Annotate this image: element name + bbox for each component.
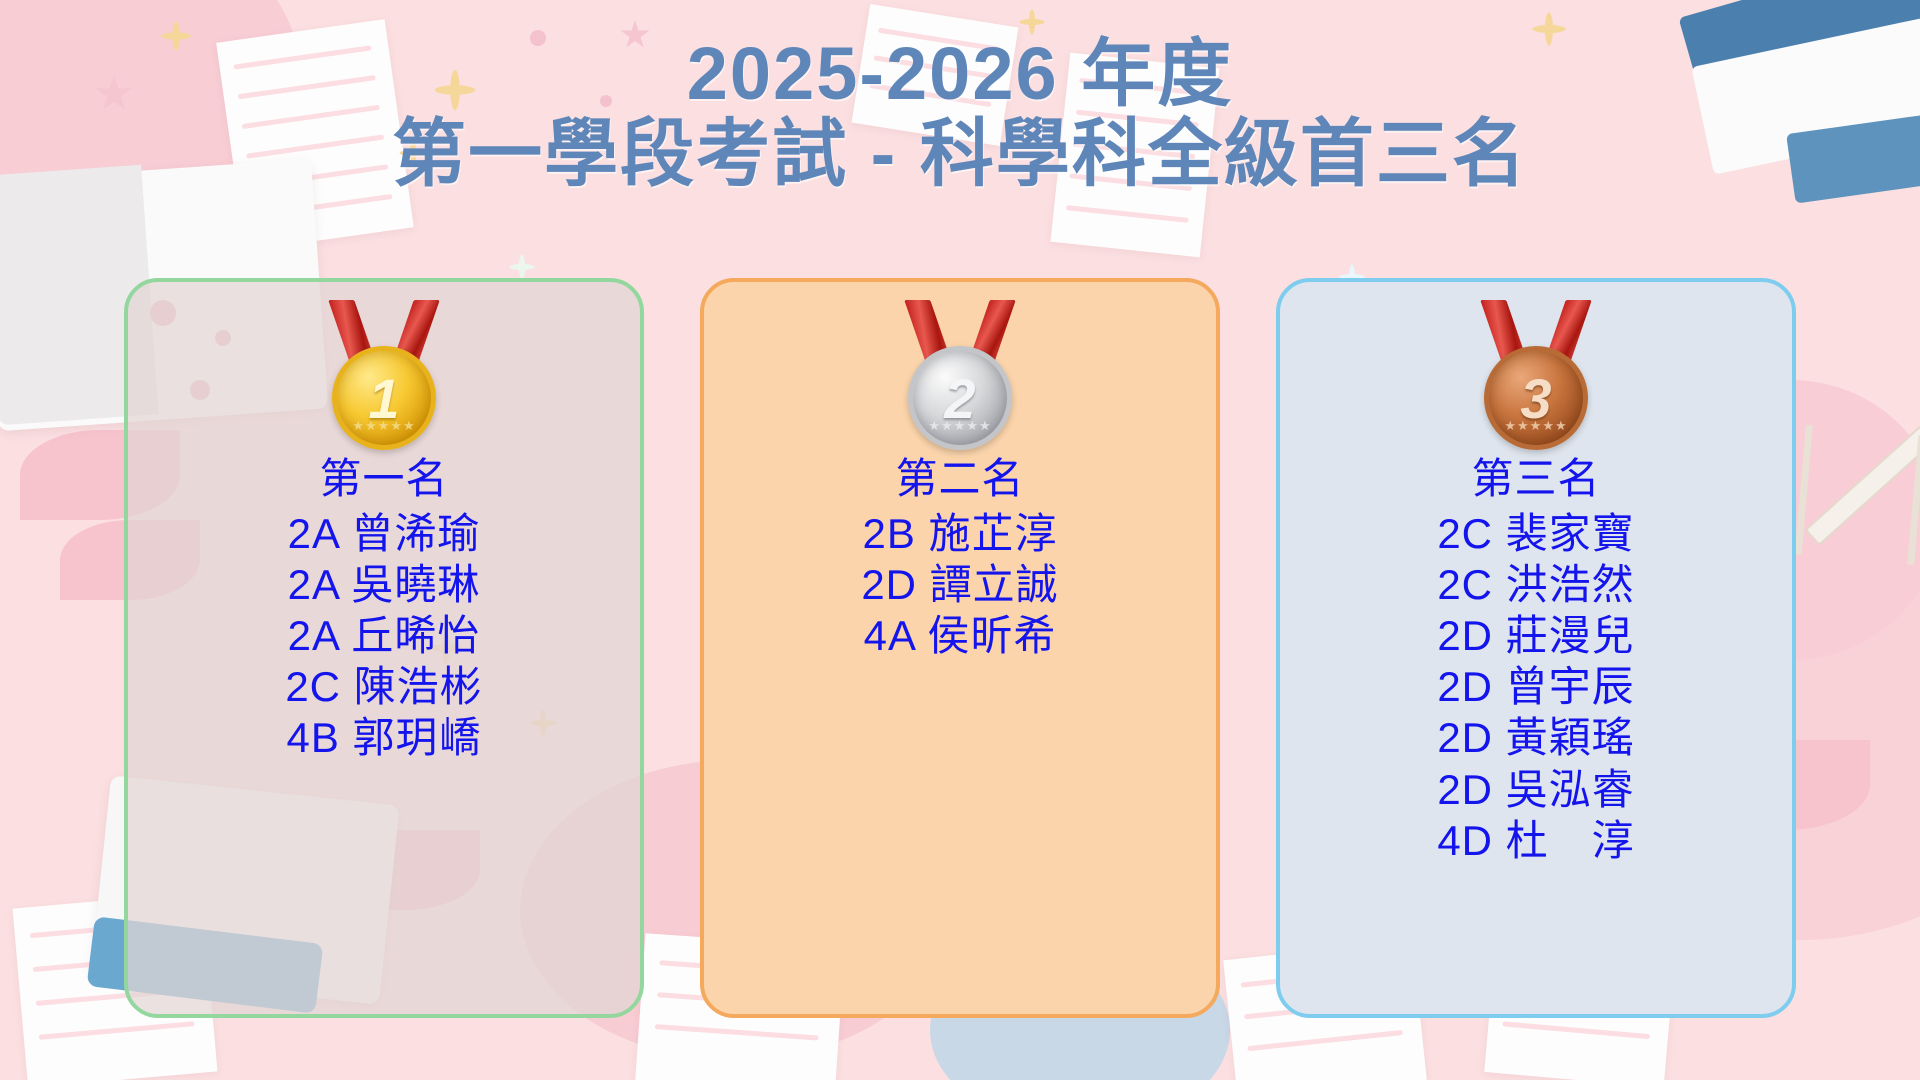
rank-title: 第二名 <box>704 454 1216 504</box>
medal-stars: ★★★★★ <box>352 418 415 434</box>
list-item: 4D 杜 淳 <box>1280 815 1792 866</box>
rank-title: 第一名 <box>128 454 640 504</box>
list-item: 2A 丘晞怡 <box>128 610 640 661</box>
winner-list: 2A 曾浠瑜 2A 吳曉琳 2A 丘晞怡 2C 陳浩彬 4B 郭玥嶠 <box>128 508 640 764</box>
medal-area: 3 ★★★★★ <box>1280 300 1792 450</box>
medal-disc: 3 <box>1484 346 1588 450</box>
title-line-2: 第一學段考試 - 科學科全級首三名 <box>0 114 1920 194</box>
list-item: 2B 施芷淳 <box>704 508 1216 559</box>
list-item: 2D 吳泓睿 <box>1280 764 1792 815</box>
list-item: 2A 曾浠瑜 <box>128 508 640 559</box>
list-item: 2D 曾宇辰 <box>1280 661 1792 712</box>
winner-list: 2C 裴家寶 2C 洪浩然 2D 莊漫兒 2D 曾宇辰 2D 黃穎瑤 2D 吳泓… <box>1280 508 1792 867</box>
silver-medal-icon: 2 ★★★★★ <box>894 300 1026 450</box>
page-title: 2025-2026 年度 第一學段考試 - 科學科全級首三名 <box>0 34 1920 194</box>
list-item: 2D 黃穎瑤 <box>1280 712 1792 763</box>
list-item: 4B 郭玥嶠 <box>128 712 640 763</box>
winner-list: 2B 施芷淳 2D 譚立誠 4A 侯昕希 <box>704 508 1216 662</box>
rank-title: 第三名 <box>1280 454 1792 504</box>
list-item: 2C 洪浩然 <box>1280 559 1792 610</box>
medal-disc: 1 <box>332 346 436 450</box>
rank-card-first: 1 ★★★★★ 第一名 2A 曾浠瑜 2A 吳曉琳 2A 丘晞怡 2C 陳浩彬 … <box>124 278 644 1018</box>
medal-stars: ★★★★★ <box>1504 418 1567 434</box>
list-item: 2C 陳浩彬 <box>128 661 640 712</box>
medal-area: 1 ★★★★★ <box>128 300 640 450</box>
medal-stars: ★★★★★ <box>928 418 991 434</box>
title-line-1: 2025-2026 年度 <box>0 34 1920 114</box>
list-item: 2D 譚立誠 <box>704 559 1216 610</box>
ranking-cards: 1 ★★★★★ 第一名 2A 曾浠瑜 2A 吳曉琳 2A 丘晞怡 2C 陳浩彬 … <box>0 278 1920 1038</box>
bronze-medal-icon: 3 ★★★★★ <box>1470 300 1602 450</box>
medal-disc: 2 <box>908 346 1012 450</box>
gold-medal-icon: 1 ★★★★★ <box>318 300 450 450</box>
medal-area: 2 ★★★★★ <box>704 300 1216 450</box>
rank-card-second: 2 ★★★★★ 第二名 2B 施芷淳 2D 譚立誠 4A 侯昕希 <box>700 278 1220 1018</box>
list-item: 2C 裴家寶 <box>1280 508 1792 559</box>
list-item: 4A 侯昕希 <box>704 610 1216 661</box>
rank-card-third: 3 ★★★★★ 第三名 2C 裴家寶 2C 洪浩然 2D 莊漫兒 2D 曾宇辰 … <box>1276 278 1796 1018</box>
list-item: 2D 莊漫兒 <box>1280 610 1792 661</box>
list-item: 2A 吳曉琳 <box>128 559 640 610</box>
